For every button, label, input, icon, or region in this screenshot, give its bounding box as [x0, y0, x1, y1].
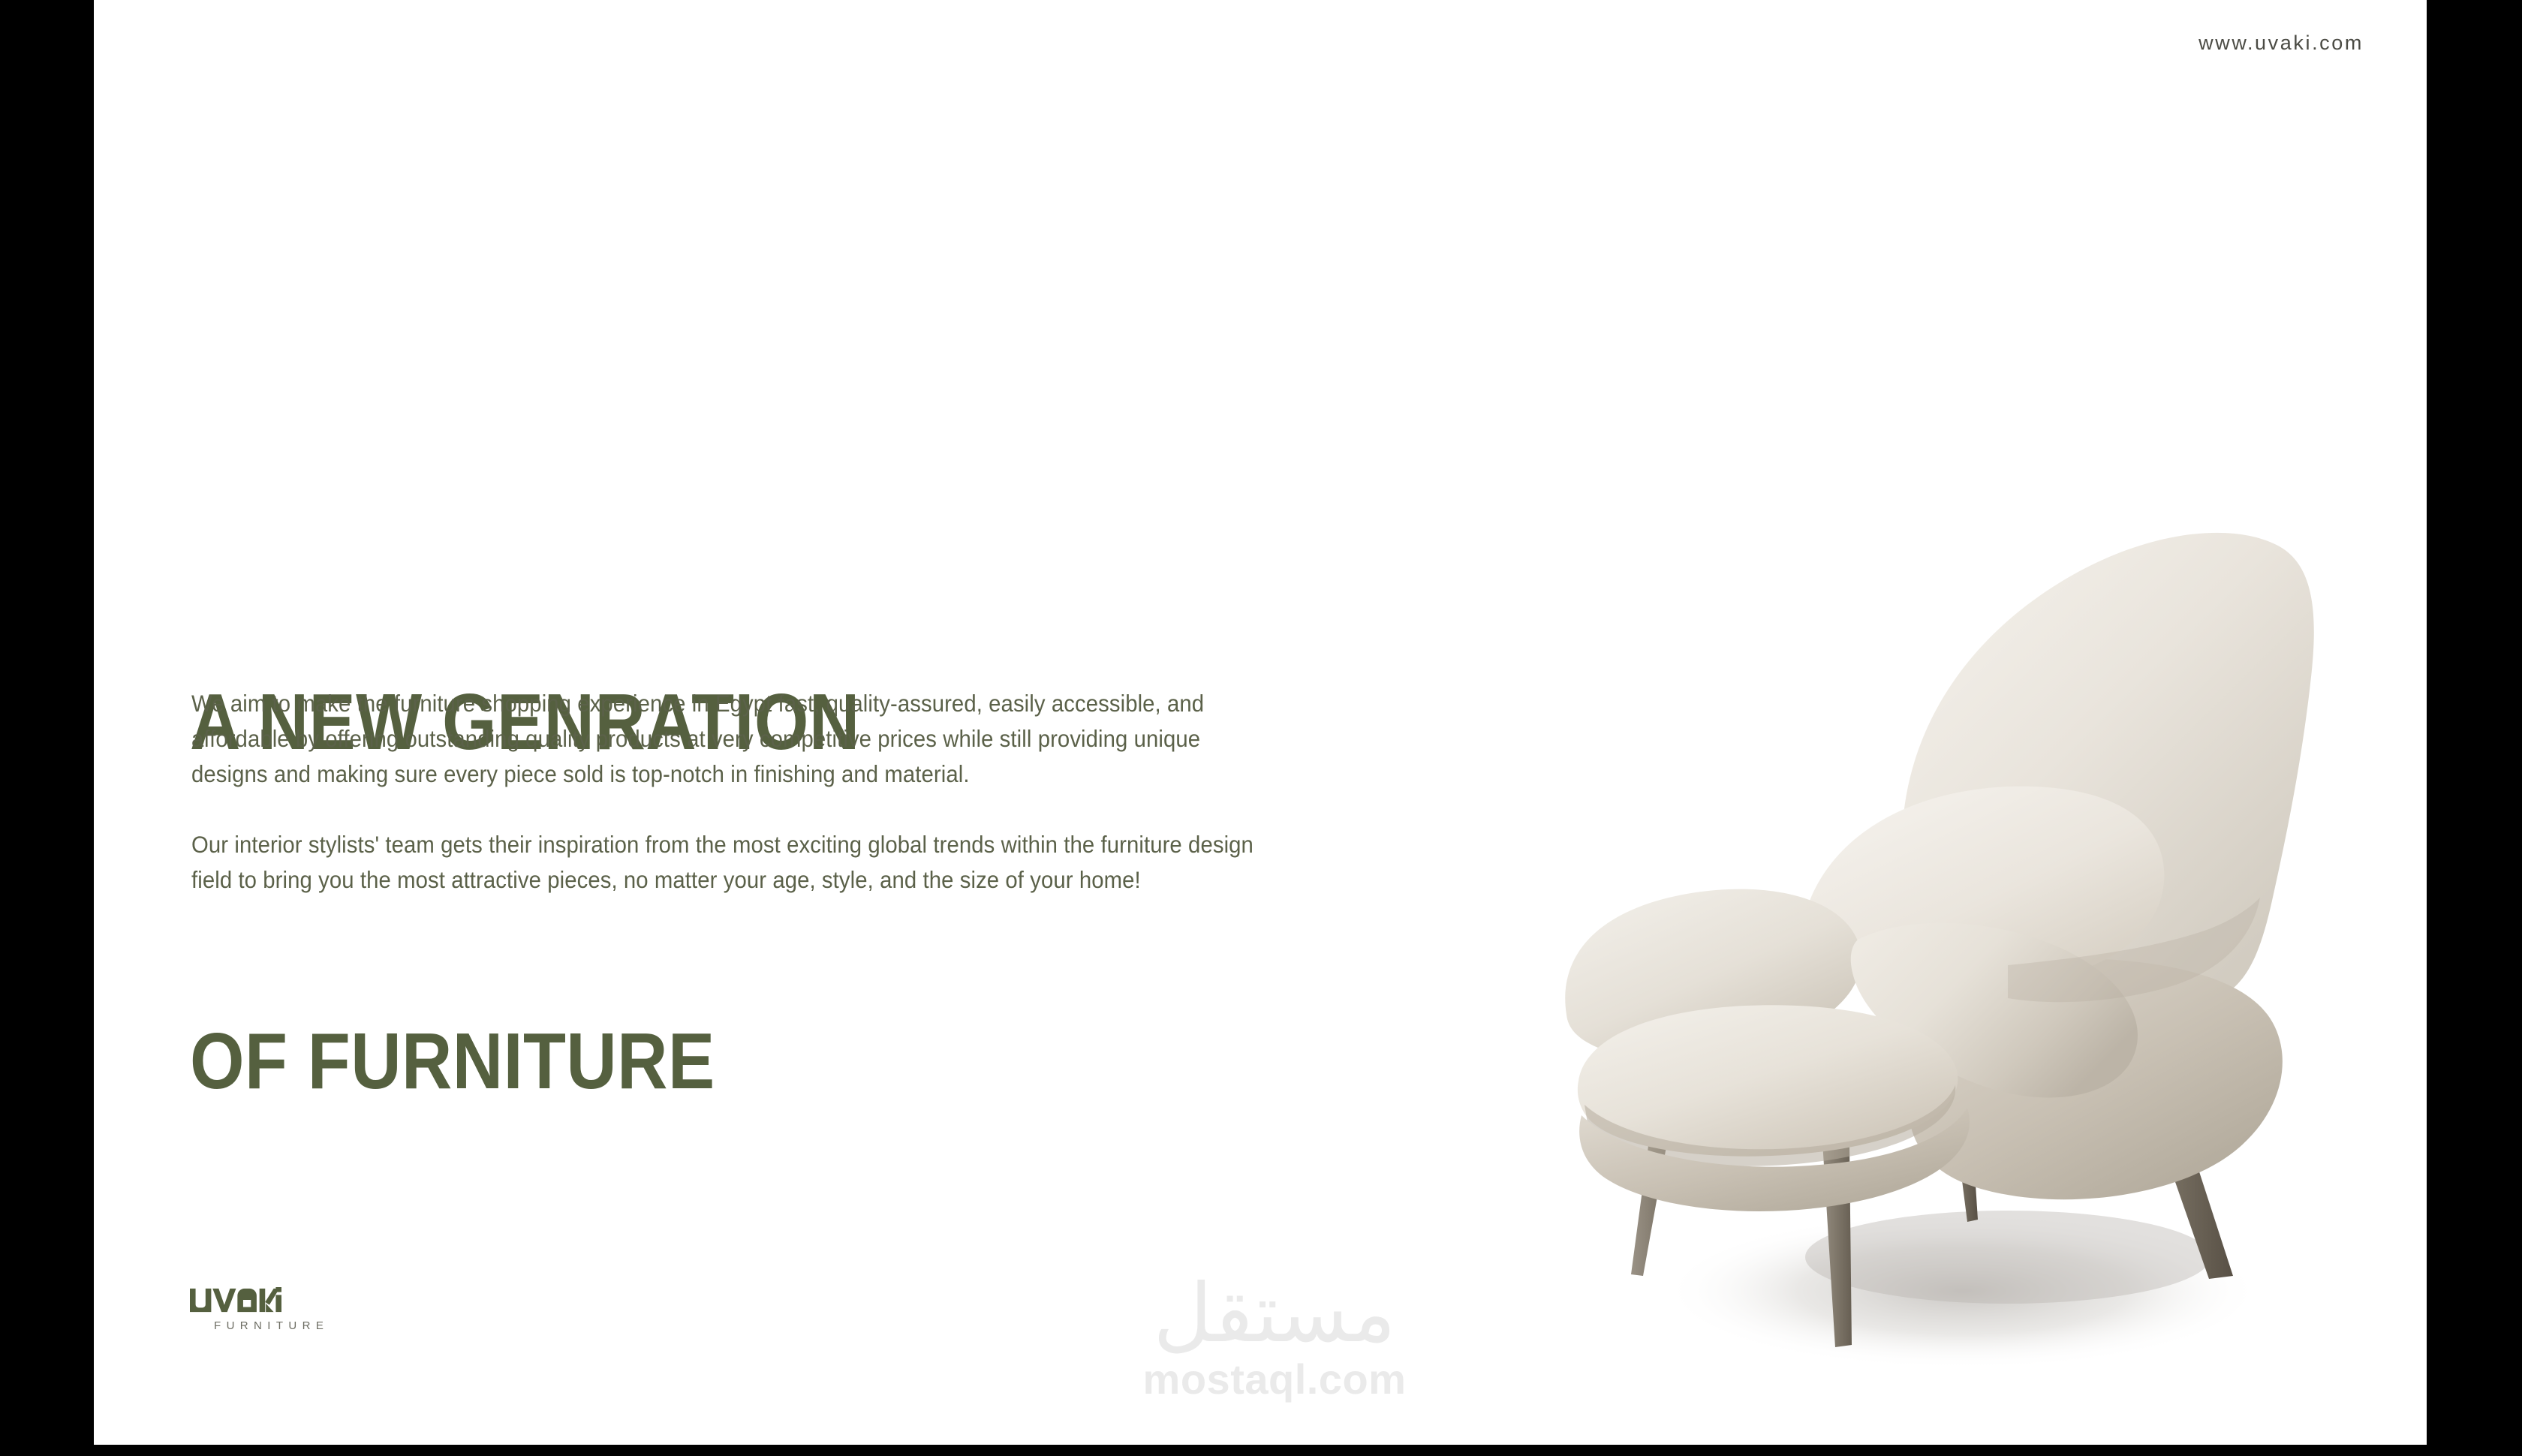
headline-line-2: OF FURNITURE	[190, 1005, 860, 1118]
armchair-illustration	[1482, 480, 2406, 1403]
letterbox-right	[2427, 0, 2522, 1456]
mostaql-watermark: مستقل mostaql.com	[1109, 1276, 1440, 1403]
watermark-latin: mostaql.com	[1109, 1355, 1440, 1403]
presentation-slide: www.uvaki.com A NEW GENRATION OF FURNITU…	[0, 0, 2522, 1456]
letterbox-bottom	[0, 1445, 2522, 1456]
uvaki-wordmark-icon	[190, 1287, 281, 1313]
slide-canvas: www.uvaki.com A NEW GENRATION OF FURNITU…	[94, 0, 2427, 1445]
website-url: www.uvaki.com	[2198, 32, 2364, 55]
product-image-armchair	[1482, 480, 2406, 1403]
body-copy: We aim to make the furniture shopping ex…	[191, 686, 1281, 898]
body-paragraph-1: We aim to make the furniture shopping ex…	[191, 686, 1281, 792]
watermark-arabic: مستقل	[1109, 1276, 1440, 1353]
uvaki-logo: FURNITURE	[190, 1287, 385, 1332]
body-paragraph-2: Our interior stylists' team gets their i…	[191, 827, 1281, 898]
logo-tagline: FURNITURE	[214, 1319, 385, 1332]
letterbox-left	[0, 0, 94, 1456]
